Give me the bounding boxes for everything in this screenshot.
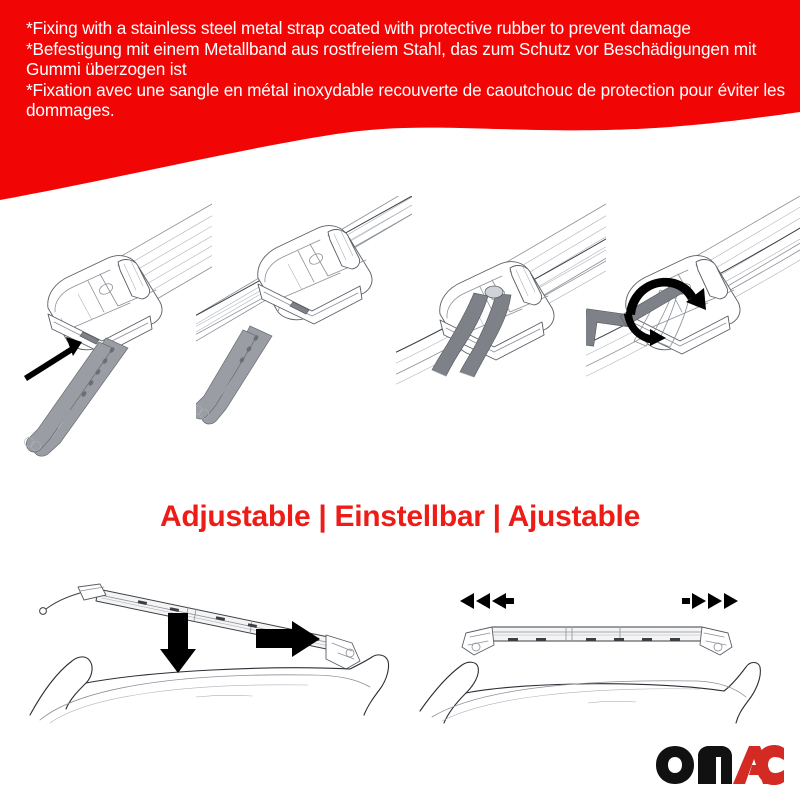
arrow-group-right bbox=[682, 593, 738, 609]
metal-strap bbox=[24, 338, 128, 456]
product-info-page: *Fixing with a stainless steel metal str… bbox=[0, 0, 800, 800]
step-strap-wrapped bbox=[396, 196, 606, 461]
logo-letter-o bbox=[656, 746, 694, 784]
vehicle-side-view-mount bbox=[20, 565, 400, 725]
omac-logo bbox=[655, 744, 785, 786]
red-banner: *Fixing with a stainless steel metal str… bbox=[0, 0, 800, 210]
vehicle-front-view-width bbox=[408, 565, 788, 725]
crossbar-assembly bbox=[40, 584, 360, 669]
car-roof-outline bbox=[420, 662, 760, 723]
step-tighten-bolt bbox=[586, 196, 800, 461]
car-roof-outline bbox=[30, 655, 389, 723]
arrow-down bbox=[160, 613, 196, 673]
banner-text: *Fixing with a stainless steel metal str… bbox=[26, 18, 786, 121]
arrow-group-left bbox=[460, 593, 514, 609]
step-insert-strap bbox=[0, 196, 212, 461]
logo-letter-m bbox=[698, 746, 732, 784]
clamp-steps-illustrations bbox=[0, 196, 800, 461]
clamp-foot-body bbox=[258, 226, 372, 324]
metal-strap-loose bbox=[196, 326, 272, 424]
assembly-arrow-up bbox=[24, 337, 82, 381]
omac-logo-mark bbox=[655, 744, 785, 786]
crossbar-assembly bbox=[462, 627, 732, 655]
vehicle-illustrations bbox=[0, 565, 800, 725]
adjustable-heading: Adjustable | Einstellbar | Ajustable bbox=[0, 500, 800, 534]
step-strap-aligned bbox=[196, 196, 412, 461]
